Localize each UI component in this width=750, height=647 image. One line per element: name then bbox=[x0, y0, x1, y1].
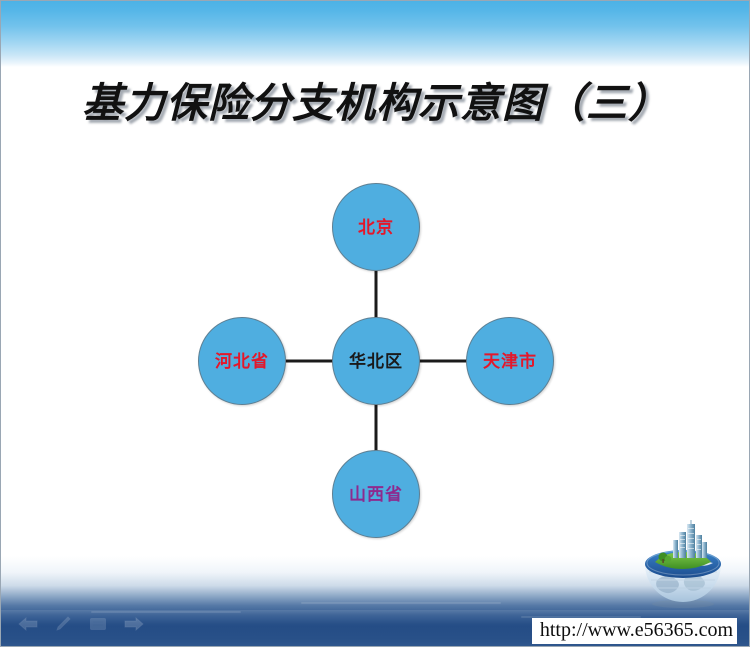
slideshow-nav-controls bbox=[17, 616, 145, 632]
node-label: 山西省 bbox=[349, 486, 403, 503]
pen-icon[interactable] bbox=[55, 616, 73, 632]
arrow-left-icon[interactable] bbox=[17, 616, 39, 632]
node-beijing[interactable]: 北京 bbox=[332, 183, 420, 271]
node-shanxi[interactable]: 山西省 bbox=[332, 450, 420, 538]
presentation-slide: 基力保险分支机构示意图（三） 北京 河北省 华北区 天津市 山西省 bbox=[0, 0, 750, 647]
node-north-china-region[interactable]: 华北区 bbox=[332, 317, 420, 405]
node-label: 北京 bbox=[358, 219, 394, 236]
node-label: 天津市 bbox=[483, 353, 537, 370]
node-label: 河北省 bbox=[215, 353, 269, 370]
globe-city-logo bbox=[635, 518, 731, 610]
node-label: 华北区 bbox=[349, 353, 403, 370]
node-hebei[interactable]: 河北省 bbox=[198, 317, 286, 405]
menu-square-icon[interactable] bbox=[89, 616, 107, 632]
site-url[interactable]: http://www.e56365.com bbox=[532, 618, 737, 644]
arrow-right-icon[interactable] bbox=[123, 616, 145, 632]
node-tianjin[interactable]: 天津市 bbox=[466, 317, 554, 405]
